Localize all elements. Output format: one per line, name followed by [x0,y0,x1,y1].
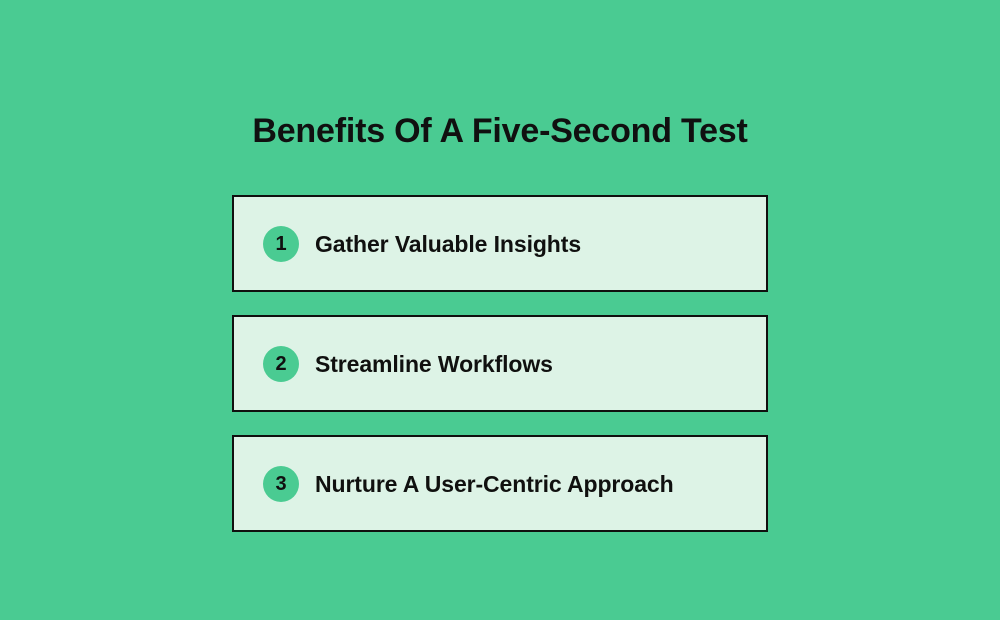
benefit-list: 1 Gather Valuable Insights 2 Streamline … [232,195,768,532]
benefit-card-1: 1 Gather Valuable Insights [232,195,768,292]
page-title: Benefits Of A Five-Second Test [0,109,1000,153]
benefit-label: Nurture A User-Centric Approach [315,469,674,499]
benefit-number-badge: 2 [263,346,299,382]
benefit-label: Streamline Workflows [315,349,553,379]
poster-canvas: Benefits Of A Five-Second Test 1 Gather … [0,0,1000,620]
benefit-card-2: 2 Streamline Workflows [232,315,768,412]
benefit-card-3: 3 Nurture A User-Centric Approach [232,435,768,532]
benefit-number-badge: 3 [263,466,299,502]
benefit-number-badge: 1 [263,226,299,262]
benefit-label: Gather Valuable Insights [315,229,581,259]
